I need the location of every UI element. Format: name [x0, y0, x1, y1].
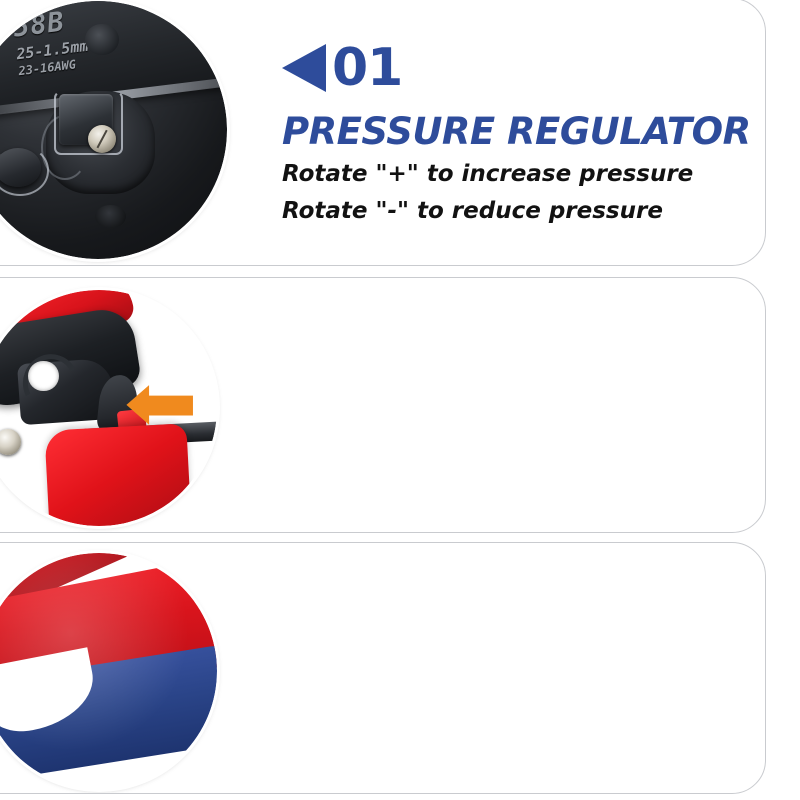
feature-heading: PRESSURE REGULATOR	[282, 110, 751, 154]
feature-card-02: 02 RELEASE TRIGGER helps clear mis-crimp…	[0, 277, 766, 533]
orange-arrow-icon	[125, 382, 196, 429]
left-triangle-icon	[282, 44, 326, 92]
tool-model-text: 58B	[12, 7, 67, 44]
feature-description-line-1: Rotate "+" to increase pressure	[282, 158, 751, 191]
crimper-handle-grip-photo	[0, 553, 217, 789]
crimper-pressure-regulator-photo: 58B 25-1.5mm ² 23-16AWG	[0, 1, 227, 259]
crimper-release-trigger-photo	[0, 290, 217, 526]
feature-number: 01	[332, 42, 402, 94]
infographic-page: 58B 25-1.5mm ² 23-16AWG 01 PRESSURE	[0, 0, 800, 800]
feature-number-row-01: 01	[282, 42, 751, 94]
feature-description-line-2: Rotate "-" to reduce pressure	[282, 195, 751, 228]
feature-card-01: 58B 25-1.5mm ² 23-16AWG 01 PRESSURE	[0, 0, 766, 266]
regulator-screw	[88, 125, 116, 153]
feature-content-01: 01 PRESSURE REGULATOR Rotate "+" to incr…	[282, 42, 751, 228]
feature-card-03: 03 COMFORTABLE HANDLE PP hard+ TPR soft …	[0, 542, 766, 794]
